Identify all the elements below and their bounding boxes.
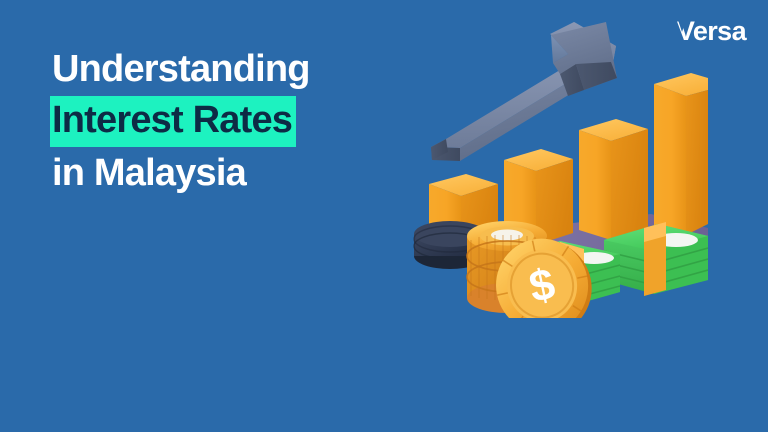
- headline-line-2-highlighted: Interest Rates: [50, 96, 296, 147]
- headline-line-2-row: Interest Rates: [52, 96, 412, 148]
- bar-3: [579, 119, 648, 240]
- headline-line-3: in Malaysia: [52, 152, 246, 194]
- illustration-svg: $: [408, 18, 708, 318]
- headline-line-3-row: in Malaysia: [52, 148, 412, 200]
- headline-block: Understanding Interest Rates in Malaysia: [52, 44, 412, 200]
- growth-chart-illustration: $: [408, 18, 708, 318]
- bar-4: [654, 73, 708, 235]
- headline-line-1: Understanding: [52, 48, 310, 90]
- banner-canvas: Versa Understanding Interest Rates in Ma…: [0, 0, 768, 432]
- headline-line-1-row: Understanding: [52, 44, 412, 96]
